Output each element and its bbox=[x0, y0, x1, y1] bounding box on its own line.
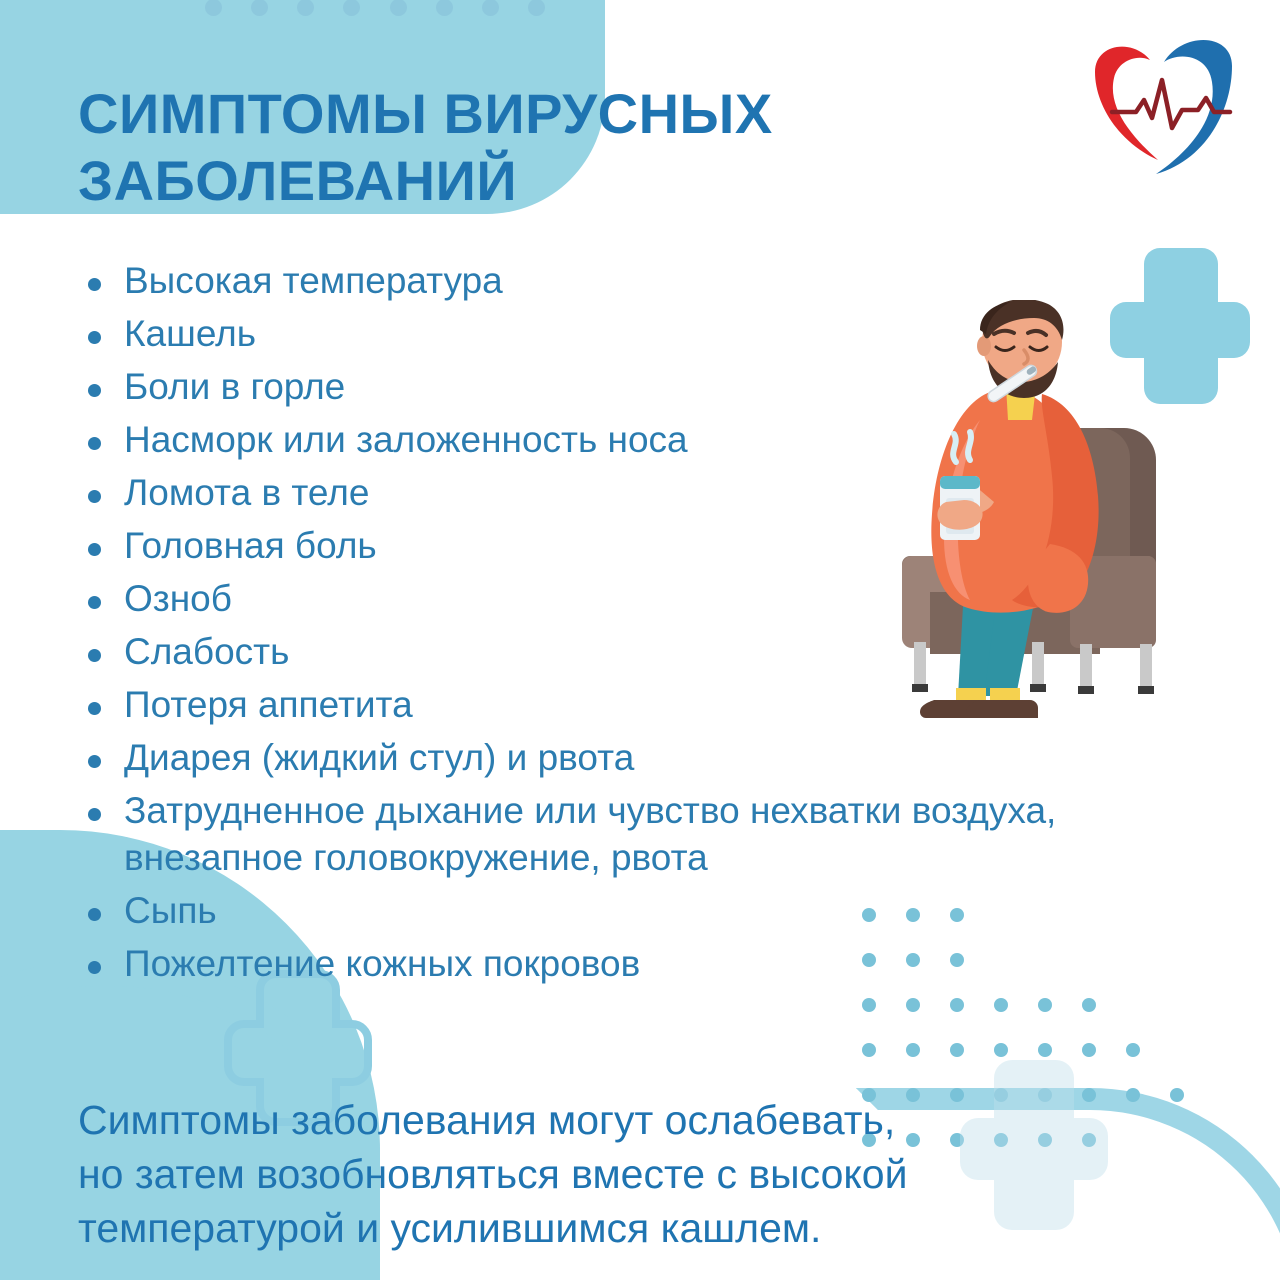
heart-ecg-logo bbox=[1074, 32, 1250, 184]
symptom-item: Сыпь bbox=[82, 888, 1202, 935]
symptom-label: Кашель bbox=[124, 313, 256, 354]
symptom-item: Головная боль bbox=[82, 523, 1202, 570]
symptom-item: Слабость bbox=[82, 629, 1202, 676]
grid-dot bbox=[1126, 1043, 1140, 1057]
symptom-item: Ломота в теле bbox=[82, 470, 1202, 517]
grid-dot bbox=[1170, 1043, 1184, 1057]
symptom-item: Диарея (жидкий стул) и рвота bbox=[82, 735, 1202, 782]
symptom-item: Озноб bbox=[82, 576, 1202, 623]
symptom-label: Высокая температура bbox=[124, 260, 503, 301]
symptom-label: Ломота в теле bbox=[124, 472, 369, 513]
bullet-icon bbox=[88, 808, 101, 821]
page-title-line-1: СИМПТОМЫ ВИРУСНЫХ bbox=[78, 80, 898, 148]
bullet-icon bbox=[88, 543, 101, 556]
symptom-item: Пожелтение кожных покровов bbox=[82, 941, 1202, 988]
page-title: СИМПТОМЫ ВИРУСНЫХ ЗАБОЛЕВАНИЙ bbox=[78, 80, 898, 216]
symptom-item: Кашель bbox=[82, 311, 1202, 358]
grid-dot bbox=[994, 998, 1008, 1012]
grid-dot bbox=[862, 1043, 876, 1057]
symptom-item: Насморк или заложенность носа bbox=[82, 417, 1202, 464]
closing-line-2: но затем возобновляться вместе с высокой bbox=[78, 1147, 1238, 1201]
grid-dot bbox=[906, 1043, 920, 1057]
infographic-poster: СИМПТОМЫ ВИРУСНЫХ ЗАБОЛЕВАНИЙ bbox=[0, 0, 1280, 1280]
bullet-icon bbox=[88, 278, 101, 291]
bullet-icon bbox=[88, 437, 101, 450]
symptom-label: Потеря аппетита bbox=[124, 684, 413, 725]
symptom-label: Боли в горле bbox=[124, 366, 345, 407]
grid-dot bbox=[1082, 1043, 1096, 1057]
bullet-icon bbox=[88, 755, 101, 768]
symptom-label: Затрудненное дыхание или чувство нехватк… bbox=[124, 790, 1056, 878]
grid-dot bbox=[950, 998, 964, 1012]
bullet-icon bbox=[88, 490, 101, 503]
symptom-label: Диарея (жидкий стул) и рвота bbox=[124, 737, 634, 778]
grid-dot bbox=[862, 998, 876, 1012]
symptom-list: Высокая температураКашельБоли в горлеНас… bbox=[82, 258, 1202, 994]
symptom-label: Сыпь bbox=[124, 890, 217, 931]
page-title-line-2: ЗАБОЛЕВАНИЙ bbox=[78, 147, 898, 215]
symptom-item: Боли в горле bbox=[82, 364, 1202, 411]
bullet-icon bbox=[88, 908, 101, 921]
bullet-icon bbox=[88, 961, 101, 974]
grid-dot bbox=[1126, 998, 1140, 1012]
bullet-icon bbox=[88, 649, 101, 662]
symptom-label: Озноб bbox=[124, 578, 232, 619]
symptom-label: Насморк или заложенность носа bbox=[124, 419, 688, 460]
grid-dot bbox=[950, 1043, 964, 1057]
grid-dot bbox=[906, 998, 920, 1012]
symptom-item: Затрудненное дыхание или чувство нехватк… bbox=[82, 788, 1239, 882]
symptom-item: Высокая температура bbox=[82, 258, 1202, 305]
grid-dot bbox=[994, 1043, 1008, 1057]
grid-dot bbox=[1038, 998, 1052, 1012]
grid-dot bbox=[1038, 1043, 1052, 1057]
symptom-label: Пожелтение кожных покровов bbox=[124, 943, 640, 984]
grid-dot bbox=[1170, 998, 1184, 1012]
closing-paragraph: Симптомы заболевания могут ослабевать, н… bbox=[78, 1093, 1238, 1255]
bullet-icon bbox=[88, 596, 101, 609]
symptom-item: Потеря аппетита bbox=[82, 682, 1202, 729]
bullet-icon bbox=[88, 331, 101, 344]
symptom-label: Головная боль bbox=[124, 525, 377, 566]
bullet-icon bbox=[88, 702, 101, 715]
closing-line-1: Симптомы заболевания могут ослабевать, bbox=[78, 1093, 1238, 1147]
grid-dot bbox=[1082, 998, 1096, 1012]
closing-line-3: температурой и усилившимся кашлем. bbox=[78, 1201, 1238, 1255]
bullet-icon bbox=[88, 384, 101, 397]
symptom-label: Слабость bbox=[124, 631, 289, 672]
